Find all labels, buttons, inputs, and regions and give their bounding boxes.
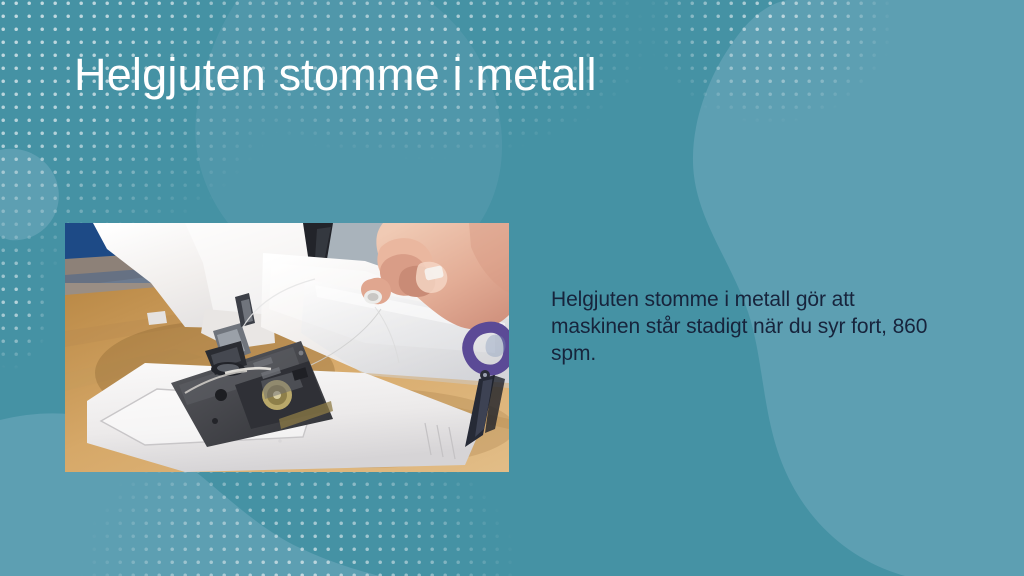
blob-top-left bbox=[0, 149, 59, 240]
sewing-machine-photo bbox=[65, 223, 509, 472]
body-paragraph: Helgjuten stomme i metall gör att maskin… bbox=[551, 286, 943, 367]
sewing-machine-illustration bbox=[65, 223, 509, 472]
slide-canvas: Helgjuten stomme i metall bbox=[0, 0, 1024, 576]
dot-cluster-mid-left bbox=[0, 220, 60, 380]
slide-title: Helgjuten stomme i metall bbox=[74, 48, 934, 101]
